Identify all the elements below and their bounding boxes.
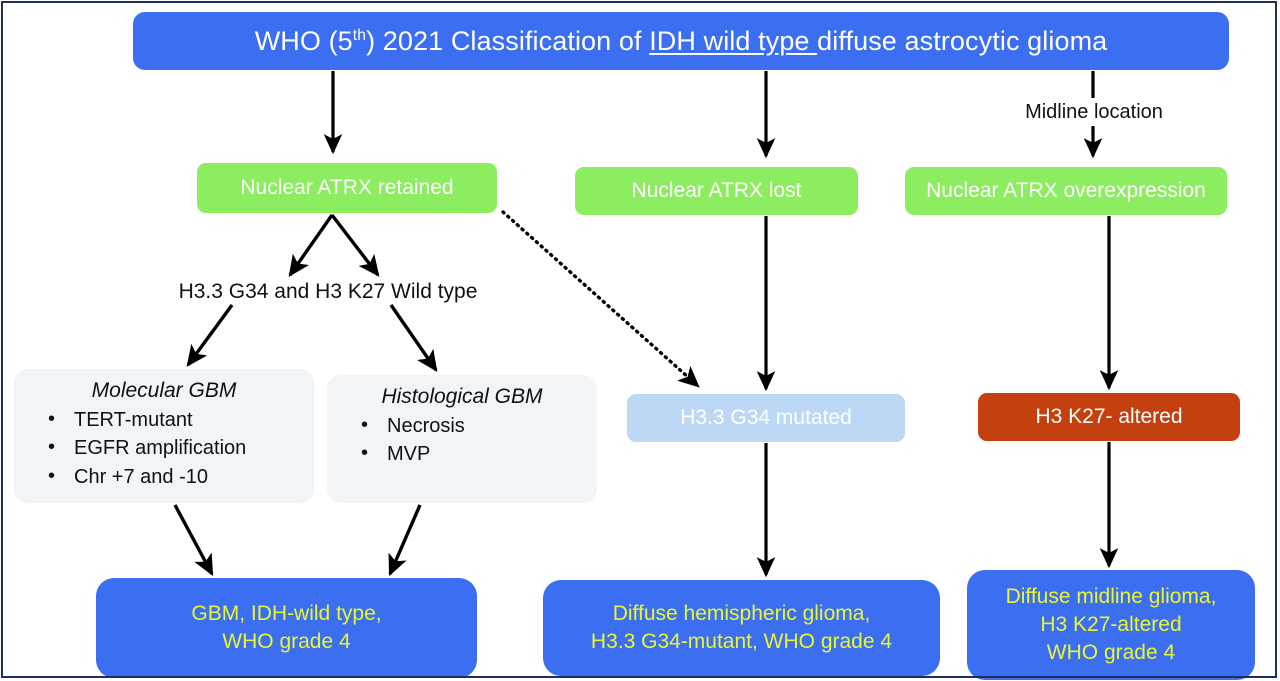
diagnosis-line-2: WHO grade 4 [222,628,350,656]
page-title: WHO (5th) 2021 Classification of IDH wil… [255,26,1108,57]
list-item: EGFR amplification [44,434,314,462]
diagnosis-line-1: GBM, IDH-wild type, [191,600,381,628]
edge-histological-gbm-to-dx [390,505,420,574]
node-h33-g34-mutated[interactable]: H3.3 G34 mutated [627,394,905,442]
diagnosis-line-2: H3 K27-altered [1040,611,1181,639]
title-prefix: WHO (5 [255,26,353,56]
label-text: H3.3 G34 and H3 K27 Wild type [179,280,478,304]
node-diagnosis-diffuse-hemispheric-glioma[interactable]: Diffuse hemispheric glioma, H3.3 G34-mut… [543,580,940,676]
molecular-gbm-criteria-list: TERT-mutant EGFR amplification Chr +7 an… [14,406,314,491]
diagnosis-line-2: H3.3 G34-mutant, WHO grade 4 [591,628,892,656]
title-underlined-term: IDH wild type [649,26,817,56]
edge-label-text: Midline location [1025,101,1163,124]
edge-retained-split-left [290,215,332,275]
edge-molecular-gbm-to-dx [175,505,212,574]
title-superscript: th [353,27,366,44]
diagnosis-line-3: WHO grade 4 [1047,639,1175,667]
diagnosis-line-1: Diffuse hemispheric glioma, [613,600,871,628]
figure-title: WHO (5th) 2021 Classification of IDH wil… [133,12,1229,70]
node-nuclear-atrx-lost[interactable]: Nuclear ATRX lost [575,167,858,215]
flowchart-canvas: WHO (5th) 2021 Classification of IDH wil… [0,0,1280,681]
node-label: Nuclear ATRX overexpression [926,179,1206,203]
node-nuclear-atrx-overexpression[interactable]: Nuclear ATRX overexpression [905,167,1227,215]
molecular-gbm-title: Molecular GBM [14,379,314,403]
histological-gbm-title: Histological GBM [327,385,597,409]
node-label: H3.3 G34 mutated [680,406,852,430]
node-label: Nuclear ATRX lost [632,179,802,203]
list-item: TERT-mutant [44,406,314,434]
list-item: MVP [357,440,597,468]
diagnosis-line-1: Diffuse midline glioma, [1006,583,1217,611]
node-label: H3 K27- altered [1035,405,1182,429]
edge-wildtype-to-molecular-gbm [188,305,232,365]
edge-retained-to-g34-dotted [503,212,698,386]
title-suffix: diffuse astrocytic glioma [817,26,1107,56]
node-histological-gbm[interactable]: Histological GBM Necrosis MVP [327,375,597,503]
label-h33-g34-and-h3-k27-wild-type: H3.3 G34 and H3 K27 Wild type [148,277,508,307]
node-label: Nuclear ATRX retained [240,176,453,200]
edge-wildtype-to-histological-gbm [391,305,436,370]
node-diagnosis-diffuse-midline-glioma[interactable]: Diffuse midline glioma, H3 K27-altered W… [967,570,1255,680]
list-item: Chr +7 and -10 [44,463,314,491]
title-mid: ) 2021 Classification of [366,26,649,56]
node-molecular-gbm[interactable]: Molecular GBM TERT-mutant EGFR amplifica… [14,369,314,503]
node-nuclear-atrx-retained[interactable]: Nuclear ATRX retained [197,163,497,213]
edge-retained-split-right [332,215,378,275]
node-diagnosis-gbm-idh-wild-type[interactable]: GBM, IDH-wild type, WHO grade 4 [96,578,477,678]
edge-label-midline-location: Midline location [1006,98,1182,126]
list-item: Necrosis [357,412,597,440]
node-h3-k27-altered[interactable]: H3 K27- altered [978,393,1240,441]
histological-gbm-criteria-list: Necrosis MVP [327,412,597,469]
